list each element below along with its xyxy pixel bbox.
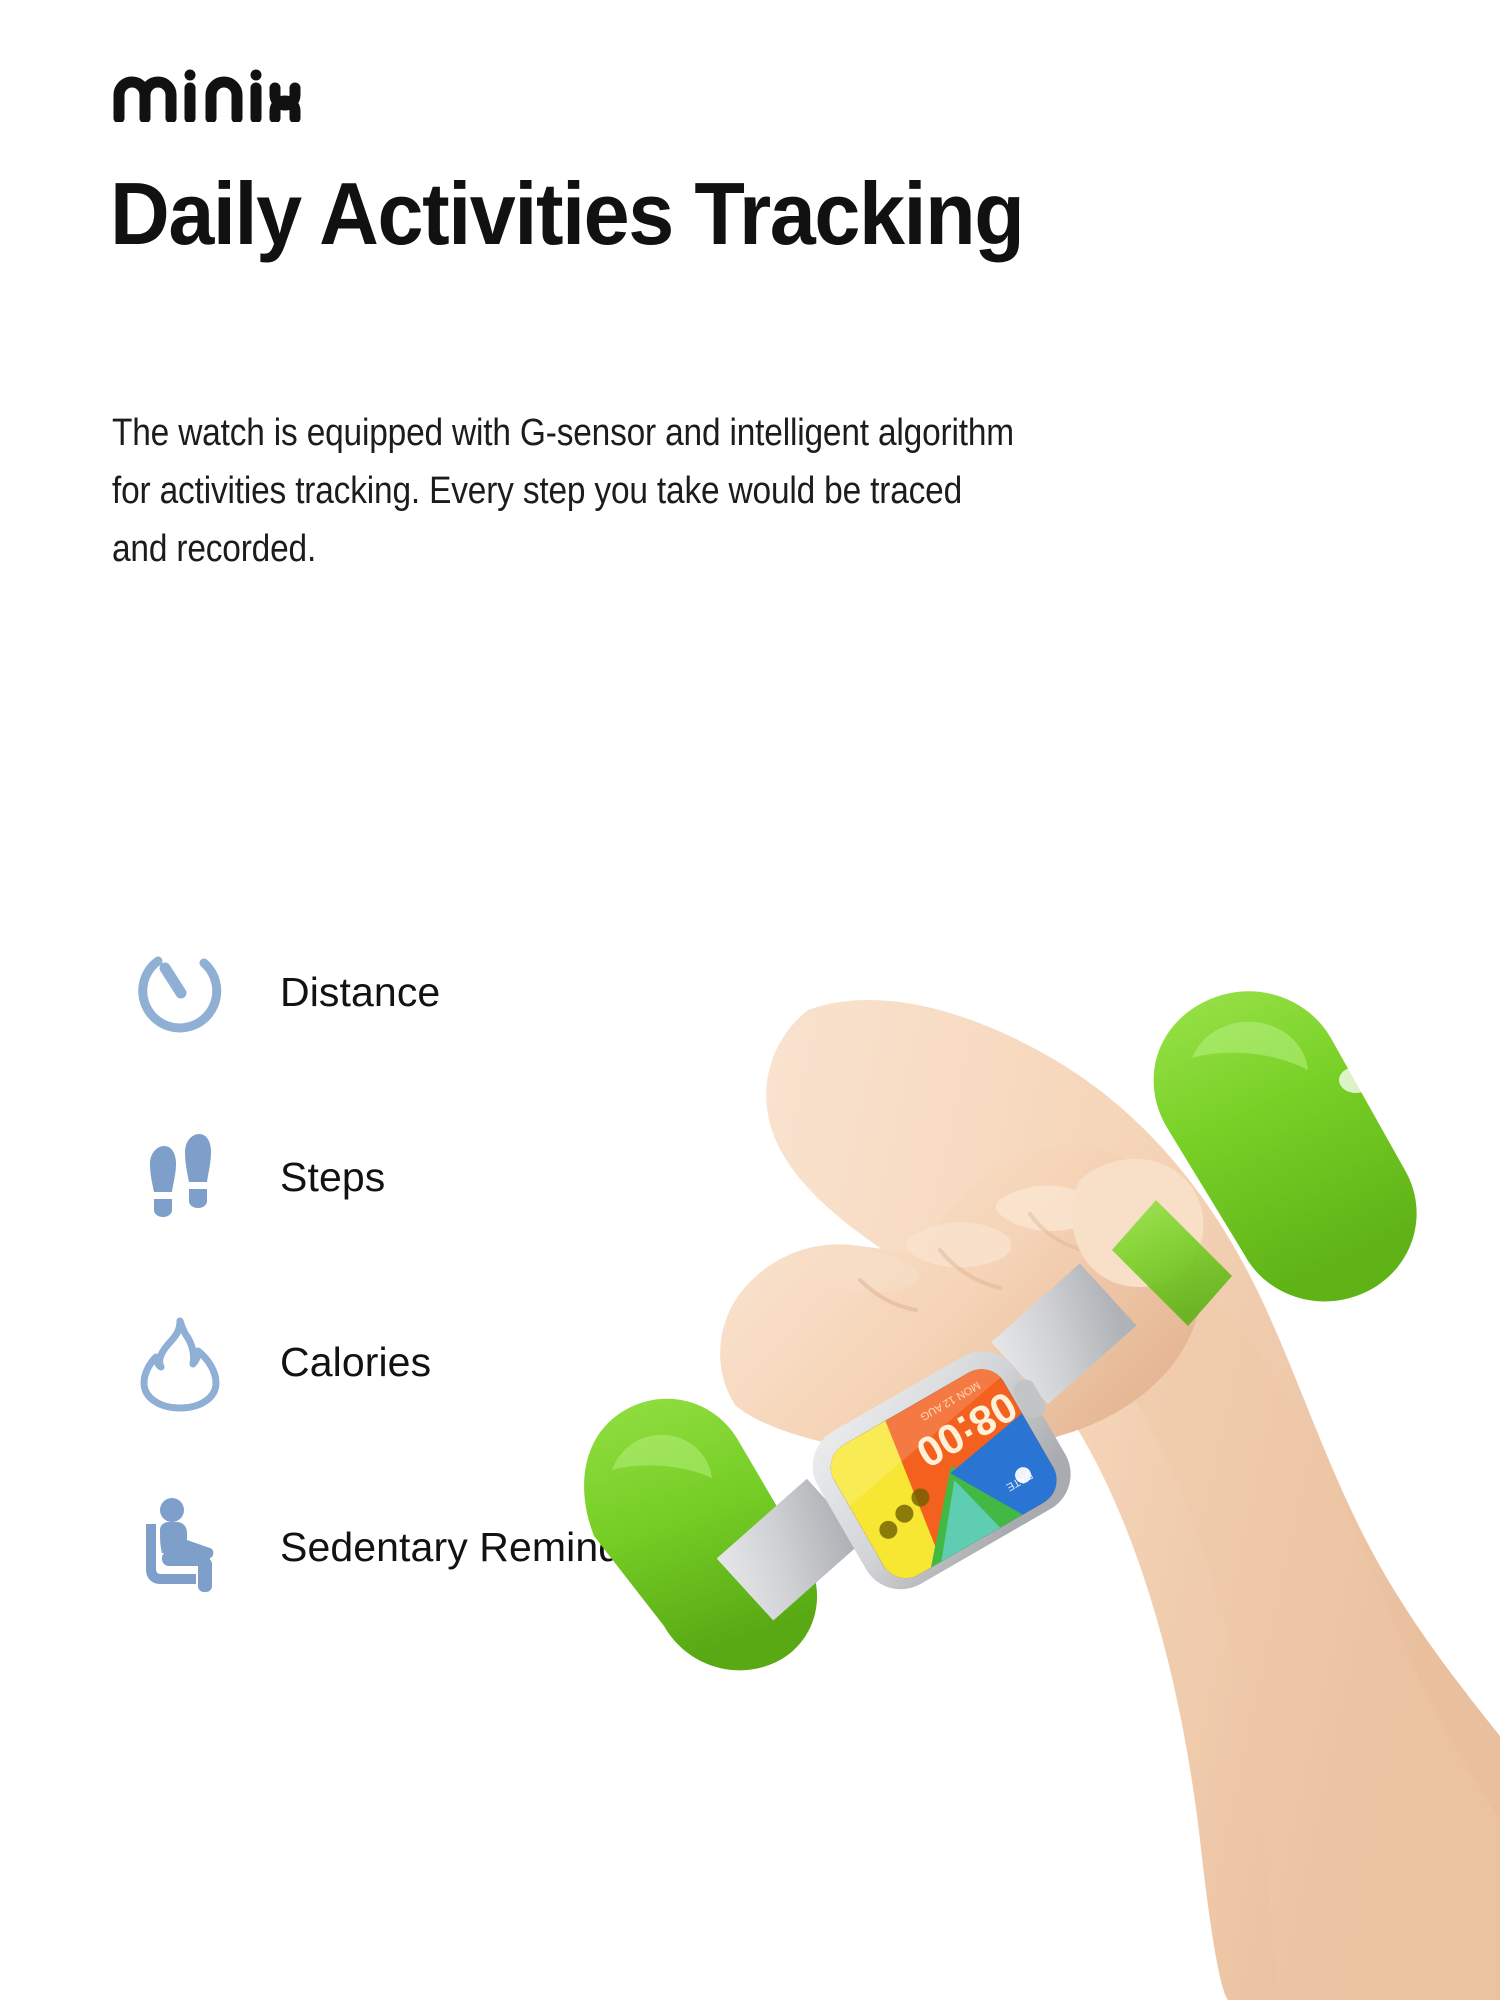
minix-wordmark-icon xyxy=(112,68,302,122)
feature-label: Distance xyxy=(280,969,440,1016)
page-title: Daily Activities Tracking xyxy=(110,170,1125,258)
product-photo: 08:00 MON 12 AUG DATE xyxy=(560,680,1500,2000)
feature-label: Steps xyxy=(280,1154,385,1201)
footprints-icon xyxy=(120,1126,240,1230)
speedometer-icon xyxy=(120,941,240,1045)
brand-logo xyxy=(112,68,302,122)
person-sitting-icon xyxy=(120,1496,240,1600)
flame-icon xyxy=(120,1311,240,1415)
feature-label: Calories xyxy=(280,1339,431,1386)
page-description: The watch is equipped with G-sensor and … xyxy=(112,405,1014,578)
arm-with-dumbbell-illustration: 08:00 MON 12 AUG DATE xyxy=(560,680,1500,2000)
